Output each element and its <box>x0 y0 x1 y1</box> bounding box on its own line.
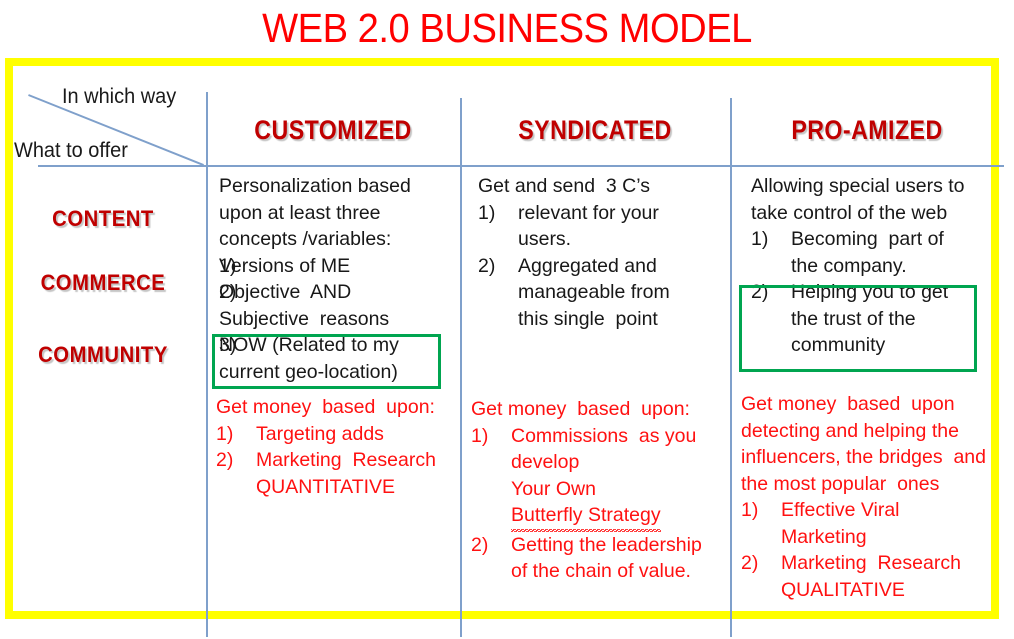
cell-intro-line: upon at least three <box>219 200 447 227</box>
axis-label-rows: What to offer <box>14 139 128 163</box>
list-item: 1) Versions of ME <box>219 253 447 280</box>
list-item-text: Objective AND Subjective reasons <box>219 279 447 332</box>
list-item-number: 1) <box>216 421 256 448</box>
list-item-number: 1) <box>471 423 511 532</box>
grid-divider-vertical-3 <box>730 98 732 637</box>
cell-syndicated-monetization: Get money based upon:1) Commissions as y… <box>471 396 723 585</box>
list-item: 2) Aggregated and manageable from this s… <box>478 253 718 333</box>
column-header-customized: CUSTOMIZED <box>224 115 442 146</box>
list-item-text: Targeting adds <box>256 421 448 448</box>
cell-intro-line: Get money based upon <box>741 391 1007 418</box>
page-title: WEB 2.0 BUSINESS MODEL <box>35 2 978 54</box>
list-item-number: 1) <box>751 226 791 279</box>
list-item: 3) NOW (Related to my current geo-locati… <box>219 332 447 385</box>
list-item: 1) relevant for your users. <box>478 200 718 253</box>
list-item: 2) Objective AND Subjective reasons <box>219 279 447 332</box>
spellcheck-underlined-text: Your Own Butterfly Strategy <box>511 476 661 532</box>
cell-intro-line: Get money based upon: <box>471 396 723 423</box>
column-header-pro-amized: PRO-AMIZED <box>749 115 985 146</box>
list-item-number: 2) <box>741 550 781 603</box>
cell-intro-line: influencers, the bridges and <box>741 444 1007 471</box>
list-item: 1) Targeting adds <box>216 421 448 448</box>
list-item: 1) Commissions as you develop Your Own B… <box>471 423 723 532</box>
column-header-syndicated: SYNDICATED <box>479 115 711 146</box>
list-item-number: 2) <box>751 279 791 359</box>
cell-intro-line: Get and send 3 C’s <box>478 173 718 200</box>
cell-intro-line: Allowing special users to <box>751 173 991 200</box>
cell-intro-line: concepts /variables: <box>219 226 447 253</box>
axis-label-columns: In which way <box>62 85 176 109</box>
list-item: 1) Effective Viral Marketing <box>741 497 1007 550</box>
list-item-text: NOW (Related to my current geo-location) <box>219 332 447 385</box>
list-item-text: Aggregated and manageable from this sing… <box>518 253 718 333</box>
list-item-text: Becoming part of the company. <box>791 226 991 279</box>
cell-syndicated-description: Get and send 3 C’s1) relevant for your u… <box>478 173 718 332</box>
list-item-text: Getting the leadership of the chain of v… <box>511 532 723 585</box>
list-item-number: 1) <box>741 497 781 550</box>
list-item-number: 2) <box>471 532 511 585</box>
cell-customized-monetization: Get money based upon:1) Targeting adds2)… <box>216 394 448 500</box>
list-item-text: Commissions as you develop Your Own Butt… <box>511 423 723 532</box>
list-item-text: relevant for your users. <box>518 200 718 253</box>
cell-pro-amized-description: Allowing special users totake control of… <box>751 173 991 359</box>
row-label-commerce: COMMERCE <box>8 270 198 296</box>
row-label-content: CONTENT <box>8 206 198 232</box>
grid-divider-vertical-2 <box>460 98 462 637</box>
cell-customized-description: Personalization basedupon at least three… <box>219 173 447 385</box>
cell-intro-line: the most popular ones <box>741 471 1007 498</box>
list-item-text: Helping you to get the trust of the comm… <box>791 279 991 359</box>
list-item-number: 1) <box>478 200 518 253</box>
list-item-number: 2) <box>478 253 518 333</box>
list-item: 2) Helping you to get the trust of the c… <box>751 279 991 359</box>
cell-intro-line: take control of the web <box>751 200 991 227</box>
cell-intro-line: detecting and helping the <box>741 418 1007 445</box>
grid-divider-vertical-1 <box>206 92 208 637</box>
cell-intro-line: Get money based upon: <box>216 394 448 421</box>
cell-pro-amized-monetization: Get money based upondetecting and helpin… <box>741 391 1007 603</box>
list-item: 2) Marketing Research QUALITATIVE <box>741 550 1007 603</box>
list-item-text: Versions of ME <box>219 253 447 280</box>
list-item: 1) Becoming part of the company. <box>751 226 991 279</box>
list-item: 2) Getting the leadership of the chain o… <box>471 532 723 585</box>
list-item-text: Effective Viral Marketing <box>781 497 1007 550</box>
cell-intro-line: Personalization based <box>219 173 447 200</box>
list-item: 2) Marketing Research QUANTITATIVE <box>216 447 448 500</box>
list-item-text: Marketing Research QUALITATIVE <box>781 550 1007 603</box>
list-item-number: 2) <box>216 447 256 500</box>
row-label-community: COMMUNITY <box>8 342 198 368</box>
list-item-text: Marketing Research QUANTITATIVE <box>256 447 448 500</box>
